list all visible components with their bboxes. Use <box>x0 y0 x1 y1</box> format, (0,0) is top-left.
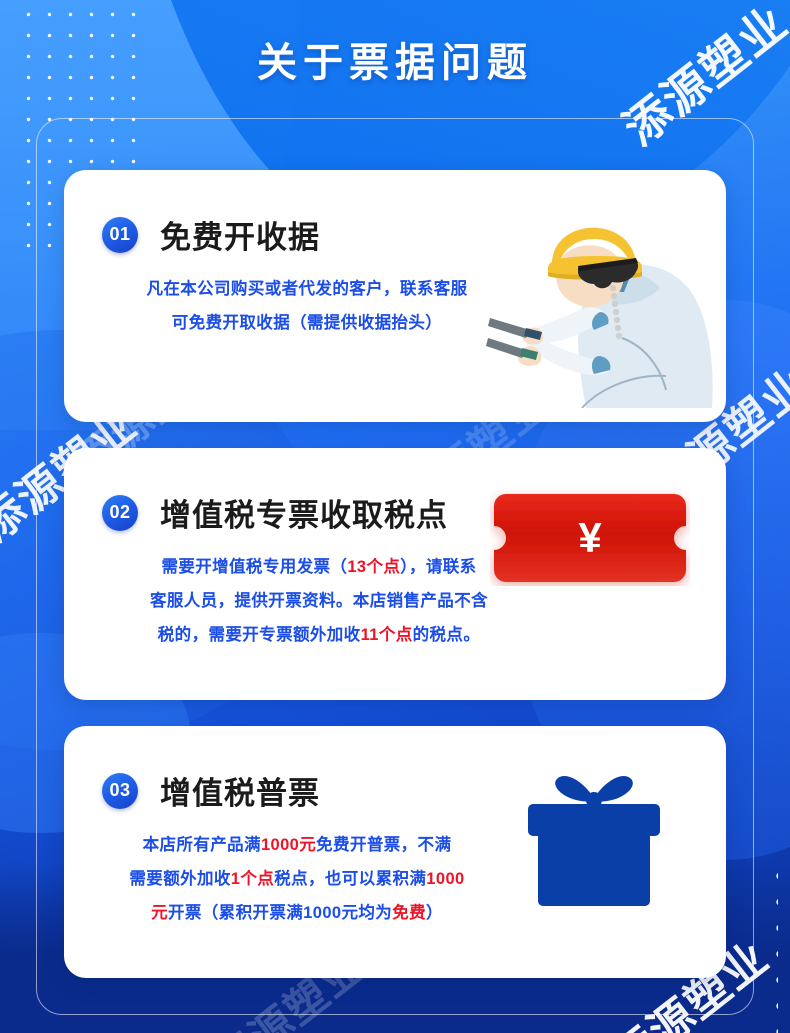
plain-text: ），请联系 <box>400 558 476 576</box>
highlight-text: 1000 <box>426 870 464 888</box>
card-body-line: 凡在本公司购买或者代发的客户，联系客服 <box>64 273 726 307</box>
highlight-text: 11个点 <box>361 626 413 644</box>
card-title: 免费开收据 <box>160 212 320 257</box>
plain-text: 税点，也可以累积满 <box>274 870 426 888</box>
card-body-line: 税的，需要开专票额外加收11个点的税点。 <box>64 619 726 653</box>
plain-text: ） <box>426 904 443 922</box>
card-number-badge: 03 <box>102 773 138 809</box>
plain-text: 开票（累积开票满1000元均为 <box>168 904 392 922</box>
highlight-text: 1个点 <box>231 870 274 888</box>
card-item: 03 增值税普票 本店所有产品满1000元免费开普票，不满 需要额外加收1个点税… <box>64 726 726 978</box>
plain-text: 免费开普票，不满 <box>316 836 451 854</box>
plain-text: 本店所有产品满 <box>143 836 261 854</box>
card-body: 需要开增值税专用发票（13个点），请联系 客服人员，提供开票资料。本店销售产品不… <box>64 535 726 652</box>
card-body-line: 本店所有产品满1000元免费开普票，不满 <box>64 829 726 863</box>
card-body: 凡在本公司购买或者代发的客户，联系客服 可免费开取收据（需提供收据抬头） <box>64 257 726 341</box>
card-body-line: 元开票（累积开票满1000元均为免费） <box>64 897 726 931</box>
card-title: 增值税普票 <box>160 768 320 813</box>
card-item: 02 增值税专票收取税点 需要开增值税专用发票（13个点），请联系 客服人员，提… <box>64 448 726 700</box>
card-number-badge: 01 <box>102 217 138 253</box>
highlight-text: 1000元 <box>261 836 316 854</box>
plain-text: 的税点。 <box>413 626 481 644</box>
card-item: 01 免费开收据 凡在本公司购买或者代发的客户，联系客服 可免费开取收据（需提供… <box>64 170 726 422</box>
card-body: 本店所有产品满1000元免费开普票，不满 需要额外加收1个点税点，也可以累积满1… <box>64 813 726 930</box>
card-body-line: 可免费开取收据（需提供收据抬头） <box>64 307 726 341</box>
highlight-text: 免费 <box>392 904 426 922</box>
highlight-text: 13个点 <box>347 558 400 576</box>
dot-column-pattern <box>768 863 778 1033</box>
page-title: 关于票据问题 <box>257 30 533 88</box>
page-header: 关于票据问题 <box>0 0 790 118</box>
plain-text: 需要额外加收 <box>129 870 230 888</box>
card-title: 增值税专票收取税点 <box>160 490 448 535</box>
plain-text: 税的，需要开专票额外加收 <box>158 626 361 644</box>
card-body-line: 客服人员，提供开票资料。本店销售产品不含 <box>64 585 726 619</box>
plain-text: 凡在本公司购买或者代发的客户，联系客服 <box>146 280 467 298</box>
plain-text: 需要开增值税专用发票（ <box>161 558 347 576</box>
highlight-text: 元 <box>151 904 168 922</box>
card-list: 01 免费开收据 凡在本公司购买或者代发的客户，联系客服 可免费开取收据（需提供… <box>64 170 726 978</box>
card-body-line: 需要开增值税专用发票（13个点），请联系 <box>64 551 726 585</box>
plain-text: 客服人员，提供开票资料。本店销售产品不含 <box>150 592 488 610</box>
card-body-line: 需要额外加收1个点税点，也可以累积满1000 <box>64 863 726 897</box>
card-number-badge: 02 <box>102 495 138 531</box>
plain-text: 可免费开取收据（需提供收据抬头） <box>172 314 442 332</box>
